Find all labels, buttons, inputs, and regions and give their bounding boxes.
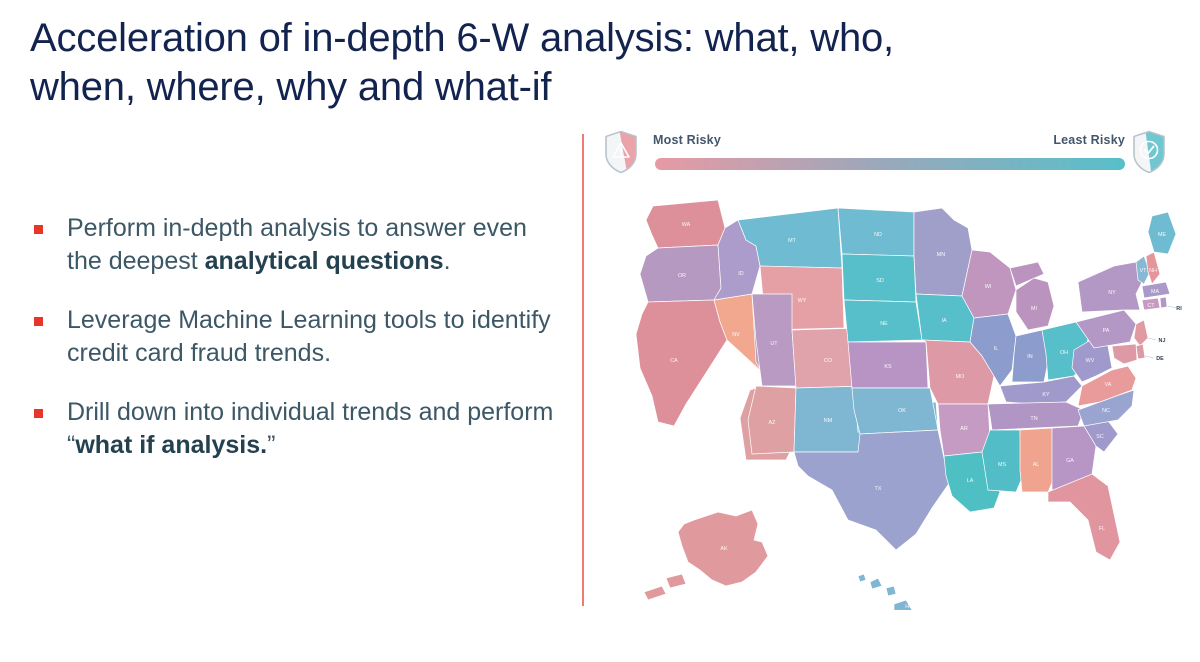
svg-text:UT: UT <box>770 341 778 347</box>
bullet-text-3: Drill down into individual trends and pe… <box>67 396 564 462</box>
svg-text:KS: KS <box>884 364 892 370</box>
state-MS[interactable] <box>982 430 1022 492</box>
svg-text:MO: MO <box>956 374 965 380</box>
svg-text:IL: IL <box>994 346 999 352</box>
usa-choropleth-map[interactable]: WA OR CA NV ID MT WY UT CO AZ NM ND SD N… <box>596 190 1188 610</box>
state-NJ[interactable] <box>1134 320 1148 346</box>
svg-text:MA: MA <box>1151 289 1159 295</box>
svg-text:MT: MT <box>788 238 796 244</box>
svg-text:OR: OR <box>678 273 686 279</box>
vertical-divider <box>582 134 584 606</box>
svg-text:TN: TN <box>1030 416 1037 422</box>
svg-text:NJ: NJ <box>1159 338 1166 344</box>
svg-text:DE: DE <box>1156 356 1164 362</box>
svg-text:ND: ND <box>874 232 882 238</box>
svg-text:OK: OK <box>898 408 906 414</box>
square-bullet-icon <box>34 225 43 234</box>
list-item: Perform in-depth analysis to answer even… <box>34 212 564 278</box>
svg-text:KY: KY <box>1042 392 1050 398</box>
list-item: Drill down into individual trends and pe… <box>34 396 564 462</box>
svg-text:ID: ID <box>738 271 743 277</box>
svg-text:AR: AR <box>960 426 968 432</box>
svg-text:LA: LA <box>967 478 974 484</box>
svg-text:ME: ME <box>1158 232 1166 238</box>
svg-text:OH: OH <box>1060 350 1068 356</box>
state-CA[interactable] <box>636 300 727 426</box>
svg-text:RI: RI <box>1176 306 1182 312</box>
square-bullet-icon <box>34 317 43 326</box>
shield-warning-icon <box>604 130 638 174</box>
svg-text:WI: WI <box>985 284 992 290</box>
legend-label-least-risky: Least Risky <box>1020 133 1125 147</box>
page-title: Acceleration of in-depth 6-W analysis: w… <box>30 14 1090 112</box>
bullet-text-2: Leverage Machine Learning tools to ident… <box>67 304 564 370</box>
map-legend: Most Risky Least Risky <box>600 128 1178 180</box>
svg-text:NY: NY <box>1108 290 1116 296</box>
svg-text:FL: FL <box>1099 526 1105 532</box>
svg-text:AL: AL <box>1033 462 1040 468</box>
svg-text:VA: VA <box>1105 382 1112 388</box>
svg-text:NV: NV <box>732 332 740 338</box>
state-AL[interactable] <box>1020 428 1054 492</box>
svg-text:NM: NM <box>824 418 833 424</box>
state-RI[interactable] <box>1160 297 1167 308</box>
state-MI[interactable] <box>1010 262 1054 330</box>
svg-text:SC: SC <box>1096 434 1104 440</box>
svg-text:WA: WA <box>682 222 691 228</box>
square-bullet-icon <box>34 409 43 418</box>
svg-text:MS: MS <box>998 462 1006 468</box>
state-DE[interactable] <box>1136 344 1145 359</box>
bullet-text-1: Perform in-depth analysis to answer even… <box>67 212 564 278</box>
svg-text:NC: NC <box>1102 408 1110 414</box>
svg-text:MN: MN <box>937 252 945 258</box>
svg-text:IA: IA <box>941 318 946 324</box>
svg-text:GA: GA <box>1066 458 1074 464</box>
svg-text:IN: IN <box>1027 354 1032 360</box>
state-HI[interactable] <box>858 574 912 610</box>
risk-gradient-colorbar <box>655 158 1125 170</box>
svg-text:AK: AK <box>720 546 728 552</box>
svg-text:AZ: AZ <box>769 420 777 426</box>
svg-text:MI: MI <box>1031 306 1037 312</box>
state-AK[interactable] <box>644 510 768 600</box>
state-MD[interactable] <box>1112 344 1137 364</box>
state-UT-main[interactable] <box>752 294 796 386</box>
svg-text:TX: TX <box>875 486 882 492</box>
svg-text:PA: PA <box>1103 328 1110 334</box>
svg-text:CO: CO <box>824 358 832 364</box>
svg-text:WY: WY <box>798 298 807 304</box>
svg-text:NH: NH <box>1149 268 1157 274</box>
svg-text:SD: SD <box>876 278 884 284</box>
bullet-list: Perform in-depth analysis to answer even… <box>34 212 564 488</box>
svg-text:WV: WV <box>1086 358 1095 364</box>
list-item: Leverage Machine Learning tools to ident… <box>34 304 564 370</box>
legend-label-most-risky: Most Risky <box>653 133 721 147</box>
svg-text:NE: NE <box>880 321 888 327</box>
state-OK-main[interactable] <box>852 388 938 434</box>
state-NY[interactable] <box>1078 262 1144 312</box>
shield-check-icon <box>1132 130 1166 174</box>
svg-text:CA: CA <box>670 358 678 364</box>
svg-text:CT: CT <box>1147 303 1155 309</box>
svg-text:HI: HI <box>905 604 910 610</box>
svg-text:VT: VT <box>1140 268 1148 274</box>
